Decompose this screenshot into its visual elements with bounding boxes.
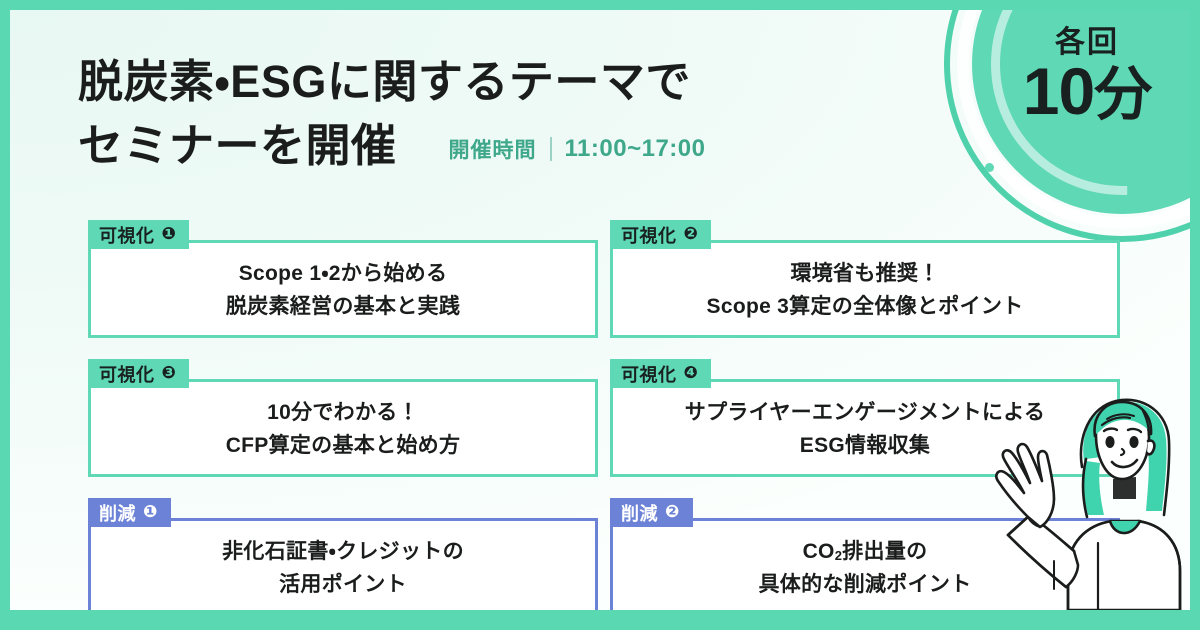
banner-inner-panel: 各回 10分 脱炭素・ESGに関するテーマで セミナーを開催 開催時間 11:0…: [10, 10, 1190, 610]
seminar-card[interactable]: 可視化 ❶ Scope 1・2から始める 脱炭素経営の基本と実践: [88, 240, 598, 338]
card-tag-number: ❶: [162, 225, 177, 242]
divider: [550, 137, 552, 161]
decorative-dot: [985, 163, 994, 172]
card-title-line-1: Scope 1・2から始める: [239, 258, 448, 291]
card-title-line-2: Scope 3算定の全体像とポイント: [707, 291, 1024, 324]
card-tag-label: 削減: [99, 500, 136, 526]
duration-badge-value: 10分: [992, 57, 1182, 126]
card-tag-number: ❷: [684, 225, 699, 242]
duration-number: 10: [1023, 54, 1094, 128]
card-tag-number: ❹: [684, 364, 699, 381]
card-title-line-2: CFP算定の基本と始め方: [226, 430, 461, 463]
event-time: 開催時間 11:00~17:00: [449, 134, 706, 164]
card-tag: 削減 ❶: [88, 498, 171, 527]
card-body: サプライヤーエンゲージメントによる ESG情報収集: [613, 382, 1117, 474]
page-title: 脱炭素・ESGに関するテーマで セミナーを開催 開催時間 11:00~17:00: [78, 50, 705, 178]
card-body: 非化石証書・クレジットの 活用ポイント: [91, 521, 595, 610]
headline-row-2: セミナーを開催 開催時間 11:00~17:00: [78, 114, 705, 178]
card-tag-label: 可視化: [621, 222, 677, 248]
card-title-line-1: 非化石証書・クレジットの: [222, 536, 464, 569]
card-tag: 削減 ❷: [610, 498, 693, 527]
duration-unit: 分: [1094, 62, 1151, 127]
card-title-line-1: 10分でわかる！: [267, 397, 419, 430]
seminar-card[interactable]: 削減 ❶ 非化石証書・クレジットの 活用ポイント: [88, 518, 598, 610]
card-tag: 可視化 ❶: [88, 220, 189, 249]
card-tag-label: 可視化: [99, 361, 155, 387]
duration-badge: 各回 10分: [992, 26, 1182, 126]
card-tag-label: 可視化: [621, 361, 677, 387]
card-title-line-2: 具体的な削減ポイント: [759, 569, 972, 602]
card-title-line-1: CO2排出量の: [803, 536, 928, 569]
headline-line-2: セミナーを開催: [78, 114, 397, 178]
card-tag: 可視化 ❹: [610, 359, 711, 388]
card-tag-label: 削減: [621, 500, 658, 526]
event-time-value: 11:00~17:00: [565, 135, 706, 163]
card-title-line-2: ESG情報収集: [800, 430, 930, 463]
seminar-card-grid: 可視化 ❶ Scope 1・2から始める 脱炭素経営の基本と実践 可視化 ❷ 環…: [88, 220, 1118, 610]
card-body: CO2排出量の 具体的な削減ポイント: [613, 521, 1117, 610]
seminar-card[interactable]: 可視化 ❹ サプライヤーエンゲージメントによる ESG情報収集: [610, 379, 1120, 477]
seminar-card[interactable]: 可視化 ❷ 環境省も推奨！ Scope 3算定の全体像とポイント: [610, 240, 1120, 338]
card-tag-number: ❸: [162, 364, 177, 381]
card-tag: 可視化 ❸: [88, 359, 189, 388]
seminar-banner: 各回 10分 脱炭素・ESGに関するテーマで セミナーを開催 開催時間 11:0…: [0, 0, 1200, 630]
card-title-line-2: 活用ポイント: [279, 569, 407, 602]
seminar-card[interactable]: 削減 ❷ CO2排出量の 具体的な削減ポイント: [610, 518, 1120, 610]
seminar-card[interactable]: 可視化 ❸ 10分でわかる！ CFP算定の基本と始め方: [88, 379, 598, 477]
card-body: 10分でわかる！ CFP算定の基本と始め方: [91, 382, 595, 474]
card-title-line-2: 脱炭素経営の基本と実践: [226, 291, 460, 324]
card-title-line-1: 環境省も推奨！: [790, 258, 939, 291]
card-title-line-1: サプライヤーエンゲージメントによる: [685, 397, 1045, 430]
card-tag-number: ❷: [665, 503, 680, 520]
card-body: 環境省も推奨！ Scope 3算定の全体像とポイント: [613, 243, 1117, 335]
card-tag: 可視化 ❷: [610, 220, 711, 249]
event-time-label: 開催時間: [449, 134, 537, 164]
card-tag-label: 可視化: [99, 222, 155, 248]
card-body: Scope 1・2から始める 脱炭素経営の基本と実践: [91, 243, 595, 335]
card-tag-number: ❶: [143, 503, 158, 520]
headline-line-1: 脱炭素・ESGに関するテーマで: [78, 50, 705, 114]
